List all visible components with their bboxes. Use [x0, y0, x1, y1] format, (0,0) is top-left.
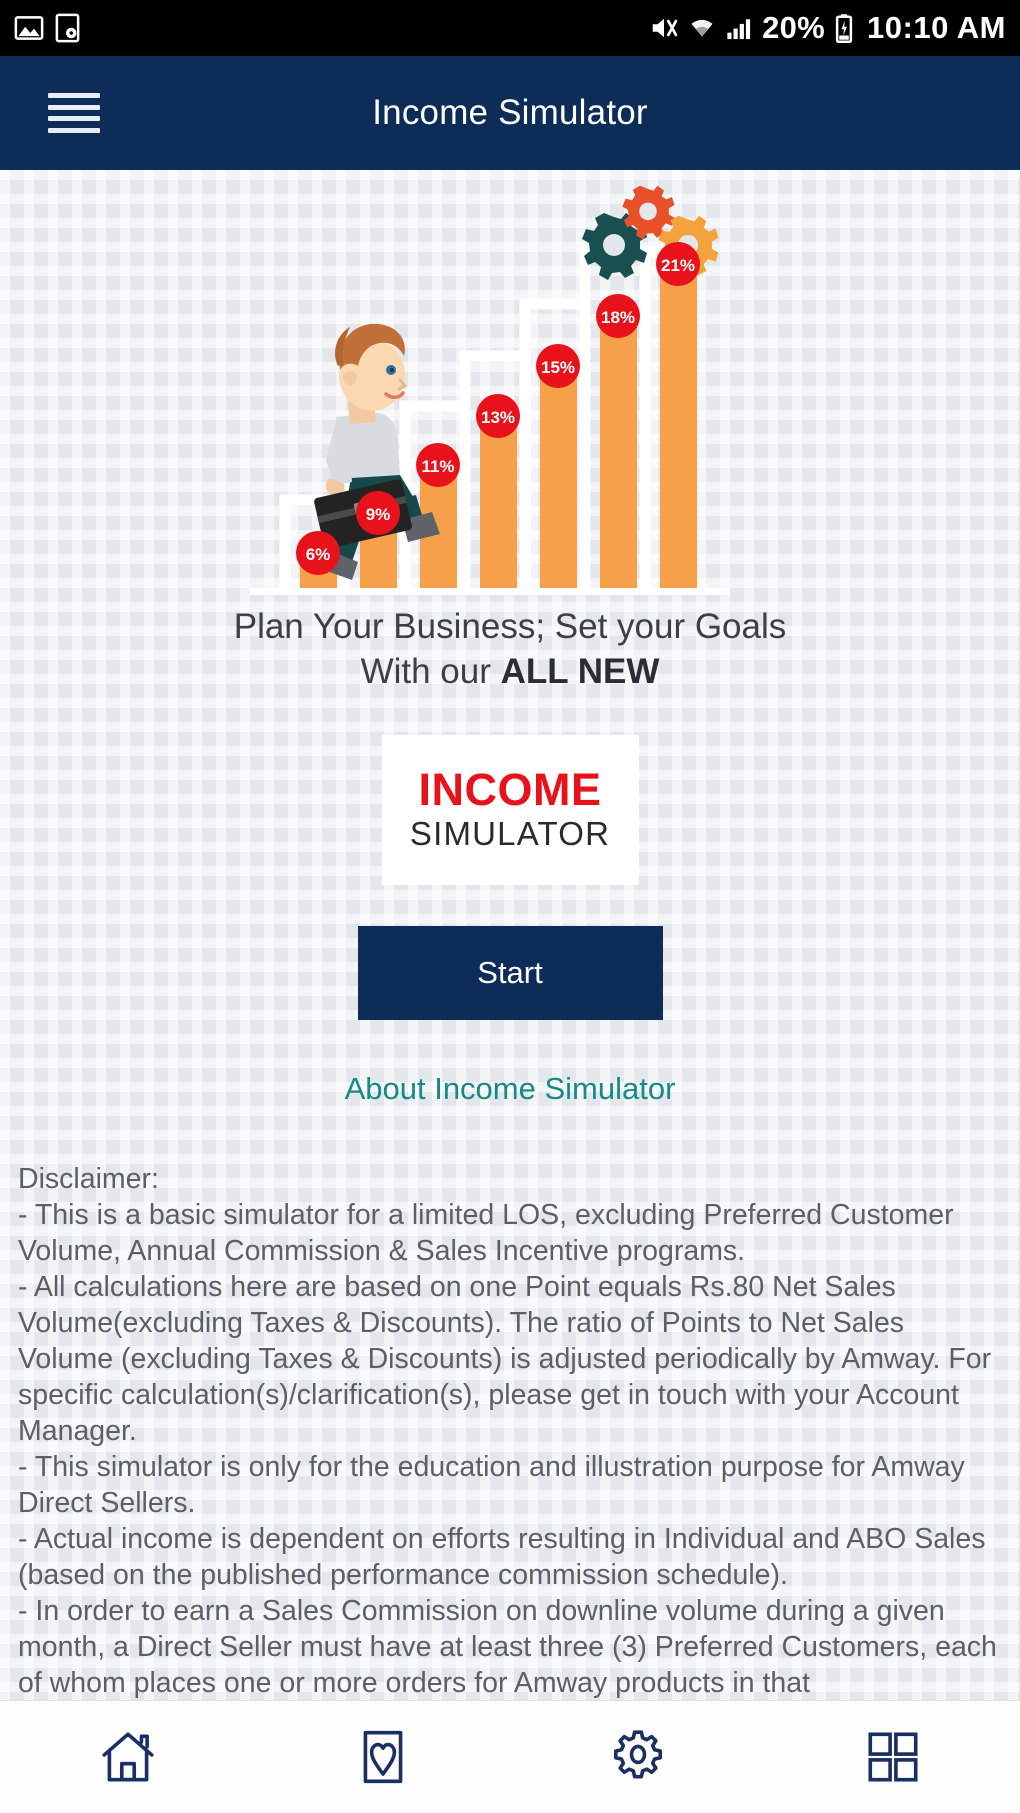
svg-text:9%: 9% — [366, 505, 391, 524]
svg-text:6%: 6% — [306, 545, 331, 564]
disclaimer-heading: Disclaimer: — [18, 1161, 1002, 1197]
about-income-simulator-link[interactable]: About Income Simulator — [0, 1071, 1020, 1107]
headline: Plan Your Business; Set your Goals With … — [0, 604, 1020, 694]
logo-simulator-text: SIMULATOR — [410, 814, 610, 854]
status-bar-clock: 10:10 AM — [867, 10, 1006, 46]
start-button[interactable]: Start — [358, 926, 663, 1020]
logo-income-text: INCOME — [419, 766, 602, 814]
home-icon — [97, 1726, 159, 1788]
main-content: 6% 9% 11% 13% 15% 18% 21% Plan Your Busi… — [0, 170, 1020, 1700]
image-icon — [14, 13, 44, 43]
bottom-navigation-bar — [0, 1700, 1020, 1813]
nav-item-home[interactable] — [0, 1701, 255, 1813]
nav-item-settings[interactable] — [510, 1701, 765, 1813]
chart-baseline — [250, 588, 730, 595]
badge-2: 9% — [356, 491, 400, 535]
favorites-icon — [352, 1726, 414, 1788]
badge-4: 13% — [476, 394, 520, 438]
disclaimer-line: - This is a basic simulator for a limite… — [18, 1197, 1002, 1269]
svg-text:21%: 21% — [661, 256, 695, 275]
disclaimer-line: - Actual income is dependent on efforts … — [18, 1521, 1002, 1593]
apps-grid-icon — [864, 1728, 922, 1786]
headline-line-2-bold: ALL NEW — [501, 652, 660, 691]
mute-icon — [649, 13, 679, 43]
headline-line-2: With our ALL NEW — [0, 649, 1020, 694]
badge-1: 6% — [296, 531, 340, 575]
bar-4 — [480, 418, 517, 588]
app-bar: Income Simulator — [0, 56, 1020, 170]
svg-text:15%: 15% — [541, 358, 575, 377]
badge-5: 15% — [536, 344, 580, 388]
svg-text:11%: 11% — [421, 457, 454, 476]
hero-illustration: 6% 9% 11% 13% 15% 18% 21% — [0, 170, 1020, 600]
svg-text:13%: 13% — [481, 408, 515, 427]
bar-6 — [600, 318, 637, 588]
signal-icon — [725, 13, 753, 43]
badge-3: 11% — [416, 443, 460, 487]
status-bar-right-icons: 20% 10:10 AM — [649, 10, 1006, 46]
headline-line-1: Plan Your Business; Set your Goals — [0, 604, 1020, 649]
status-bar: 20% 10:10 AM — [0, 0, 1020, 56]
badge-6: 18% — [596, 294, 640, 338]
page-title: Income Simulator — [0, 93, 1020, 133]
headline-line-2-prefix: With our — [361, 652, 501, 691]
disclaimer-line: - This simulator is only for the educati… — [18, 1449, 1002, 1521]
disclaimer-line: - All calculations here are based on one… — [18, 1269, 1002, 1449]
wifi-icon — [688, 13, 716, 43]
bar-7 — [660, 266, 697, 588]
status-bar-left-icons — [14, 13, 81, 43]
hamburger-menu-icon[interactable] — [48, 93, 100, 133]
screenshot-icon — [54, 13, 81, 43]
settings-gear-icon — [607, 1726, 669, 1788]
badge-7: 21% — [656, 242, 700, 286]
app-root: 20% 10:10 AM Income Simulator — [0, 0, 1020, 1813]
disclaimer-section: Disclaimer: - This is a basic simulator … — [0, 1161, 1020, 1700]
income-simulator-logo: INCOME SIMULATOR — [382, 735, 639, 885]
bar-5 — [540, 368, 577, 588]
battery-percent-text: 20% — [762, 10, 825, 46]
nav-item-apps[interactable] — [765, 1701, 1020, 1813]
nav-item-favorites[interactable] — [255, 1701, 510, 1813]
disclaimer-line: - In order to earn a Sales Commission on… — [18, 1593, 1002, 1700]
battery-icon — [834, 13, 854, 43]
svg-text:18%: 18% — [601, 308, 635, 327]
